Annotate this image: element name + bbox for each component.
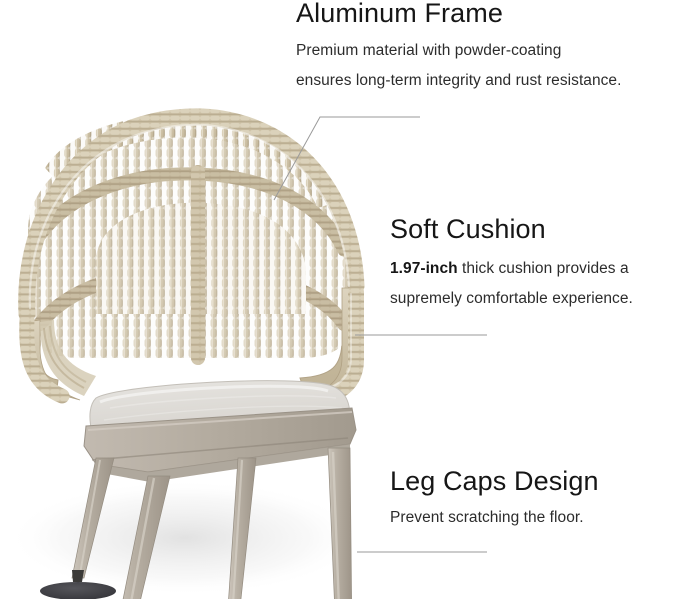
callout-leg-caps-title: Leg Caps Design [390,466,599,497]
callout-aluminum-frame-body-line2: ensures long-term integrity and rust res… [296,66,621,96]
front-right-leg [328,448,352,599]
product-illustration [0,108,382,599]
callout-leg-caps-body: Prevent scratching the floor. [390,503,599,533]
product-infographic: Aluminum Frame Premium material with pow… [0,0,679,599]
callout-aluminum-frame-body: Premium material with powder-coating ens… [296,36,621,96]
cushion-thickness-value: 1.97-inch [390,260,458,277]
callout-aluminum-frame-body-line1: Premium material with powder-coating [296,36,621,66]
callout-soft-cushion-body-line1-rest: thick cushion provides a [458,260,629,277]
callout-aluminum-frame: Aluminum Frame Premium material with pow… [296,0,621,96]
callout-aluminum-frame-title: Aluminum Frame [296,0,621,29]
chair-illustration [0,108,382,599]
callout-soft-cushion: Soft Cushion 1.97-inch thick cushion pro… [390,214,633,314]
callout-soft-cushion-body-line2: supremely comfortable experience. [390,284,633,314]
callout-soft-cushion-title: Soft Cushion [390,214,633,245]
callout-soft-cushion-body: 1.97-inch thick cushion provides a supre… [390,254,633,314]
callout-leg-caps-body-line1: Prevent scratching the floor. [390,503,599,533]
callout-soft-cushion-body-line1: 1.97-inch thick cushion provides a [390,254,633,284]
backrest-rope-weave [26,108,356,400]
callout-leg-caps: Leg Caps Design Prevent scratching the f… [390,466,599,533]
floor-shadow [7,480,363,596]
